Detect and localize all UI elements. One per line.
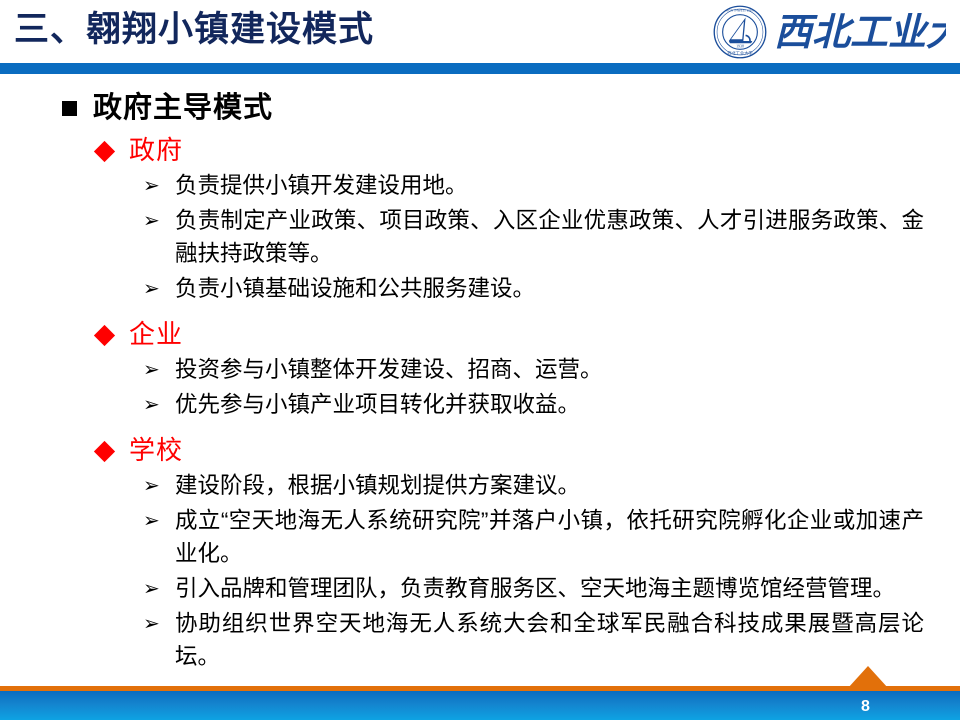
header-divider xyxy=(0,63,960,74)
list-item-text: 建设阶段，根据小镇规划提供方案建议。 xyxy=(175,469,580,502)
group-item-list: ➢ 负责提供小镇开发建设用地。 ➢ 负责制定产业政策、项目政策、入区企业优惠政策… xyxy=(0,169,960,305)
arrow-bullet-icon: ➢ xyxy=(143,572,163,605)
slide-body: 政府主导模式 政府 ➢ 负责提供小镇开发建设用地。 ➢ 负责制定产业政策、项目政… xyxy=(0,88,960,658)
footer-blue-bar xyxy=(0,691,960,720)
list-item: ➢ 建设阶段，根据小镇规划提供方案建议。 xyxy=(143,469,924,502)
arrow-bullet-icon: ➢ xyxy=(143,607,163,640)
slide: 三、翱翔小镇建设模式 1938 西北工业大学 NORTHWESTERN 西北工业… xyxy=(0,0,960,720)
group-heading: 企业 xyxy=(0,316,960,352)
group-item-list: ➢ 投资参与小镇整体开发建设、招商、运营。 ➢ 优先参与小镇产业项目转化并获取收… xyxy=(0,353,960,421)
spacer xyxy=(0,423,960,428)
square-bullet-icon xyxy=(62,101,77,116)
arrow-bullet-icon: ➢ xyxy=(143,272,163,305)
list-item-text: 负责制定产业政策、项目政策、入区企业优惠政策、人才引进服务政策、金融扶持政策等。 xyxy=(175,204,924,270)
group-heading-label: 政府 xyxy=(129,132,183,168)
group-heading: 政府 xyxy=(0,132,960,168)
list-item-text: 负责小镇基础设施和公共服务建设。 xyxy=(175,272,535,305)
arrow-bullet-icon: ➢ xyxy=(143,469,163,502)
list-item: ➢ 协助组织世界空天地海无人系统大会和全球军民融合科技成果展暨高层论坛。 xyxy=(143,607,924,673)
university-wordmark: 西北工业大学 xyxy=(774,9,946,55)
group-heading-label: 企业 xyxy=(129,316,183,352)
section-heading-label: 政府主导模式 xyxy=(93,88,273,128)
diamond-bullet-icon xyxy=(94,441,115,462)
spacer xyxy=(0,307,960,312)
list-item: ➢ 优先参与小镇产业项目转化并获取收益。 xyxy=(143,388,924,421)
arrow-bullet-icon: ➢ xyxy=(143,504,163,537)
group-item-list: ➢ 建设阶段，根据小镇规划提供方案建议。 ➢ 成立“空天地海无人系统研究院”并落… xyxy=(0,469,960,673)
svg-text:西北工业大学: 西北工业大学 xyxy=(774,10,946,54)
svg-text:西北工业大学: 西北工业大学 xyxy=(727,49,752,56)
group-school: 学校 ➢ 建设阶段，根据小镇规划提供方案建议。 ➢ 成立“空天地海无人系统研究院… xyxy=(0,432,960,673)
list-item: ➢ 引入品牌和管理团队，负责教育服务区、空天地海主题博览馆经营管理。 xyxy=(143,572,924,605)
group-enterprise: 企业 ➢ 投资参与小镇整体开发建设、招商、运营。 ➢ 优先参与小镇产业项目转化并… xyxy=(0,316,960,421)
footer-triangle-icon xyxy=(848,666,888,688)
arrow-bullet-icon: ➢ xyxy=(143,388,163,421)
university-logo: 1938 西北工业大学 NORTHWESTERN 西北工业大学 xyxy=(712,3,946,61)
list-item-text: 优先参与小镇产业项目转化并获取收益。 xyxy=(175,388,580,421)
page-number: 8 xyxy=(861,698,870,716)
slide-header: 三、翱翔小镇建设模式 1938 西北工业大学 NORTHWESTERN 西北工业… xyxy=(0,0,960,72)
diamond-bullet-icon xyxy=(94,325,115,346)
list-item: ➢ 负责小镇基础设施和公共服务建设。 xyxy=(143,272,924,305)
list-item-text: 协助组织世界空天地海无人系统大会和全球军民融合科技成果展暨高层论坛。 xyxy=(175,607,924,673)
section-heading: 政府主导模式 xyxy=(0,88,960,128)
list-item: ➢ 投资参与小镇整体开发建设、招商、运营。 xyxy=(143,353,924,386)
arrow-bullet-icon: ➢ xyxy=(143,353,163,386)
page-title: 三、翱翔小镇建设模式 xyxy=(14,8,374,52)
group-heading-label: 学校 xyxy=(129,432,183,468)
group-heading: 学校 xyxy=(0,432,960,468)
group-government: 政府 ➢ 负责提供小镇开发建设用地。 ➢ 负责制定产业政策、项目政策、入区企业优… xyxy=(0,132,960,305)
list-item-text: 投资参与小镇整体开发建设、招商、运营。 xyxy=(175,353,603,386)
list-item-text: 引入品牌和管理团队，负责教育服务区、空天地海主题博览馆经营管理。 xyxy=(175,572,895,605)
slide-footer: 8 xyxy=(0,670,960,720)
nwpu-seal-icon: 1938 西北工业大学 NORTHWESTERN xyxy=(712,4,768,60)
svg-text:NORTHWESTERN: NORTHWESTERN xyxy=(726,8,754,12)
arrow-bullet-icon: ➢ xyxy=(143,169,163,202)
list-item: ➢ 负责制定产业政策、项目政策、入区企业优惠政策、人才引进服务政策、金融扶持政策… xyxy=(143,204,924,270)
diamond-bullet-icon xyxy=(94,141,115,162)
arrow-bullet-icon: ➢ xyxy=(143,204,163,237)
list-item-text: 成立“空天地海无人系统研究院”并落户小镇，依托研究院孵化企业或加速产业化。 xyxy=(175,504,924,570)
svg-text:1938: 1938 xyxy=(736,45,744,49)
list-item: ➢ 负责提供小镇开发建设用地。 xyxy=(143,169,924,202)
list-item-text: 负责提供小镇开发建设用地。 xyxy=(175,169,468,202)
list-item: ➢ 成立“空天地海无人系统研究院”并落户小镇，依托研究院孵化企业或加速产业化。 xyxy=(143,504,924,570)
